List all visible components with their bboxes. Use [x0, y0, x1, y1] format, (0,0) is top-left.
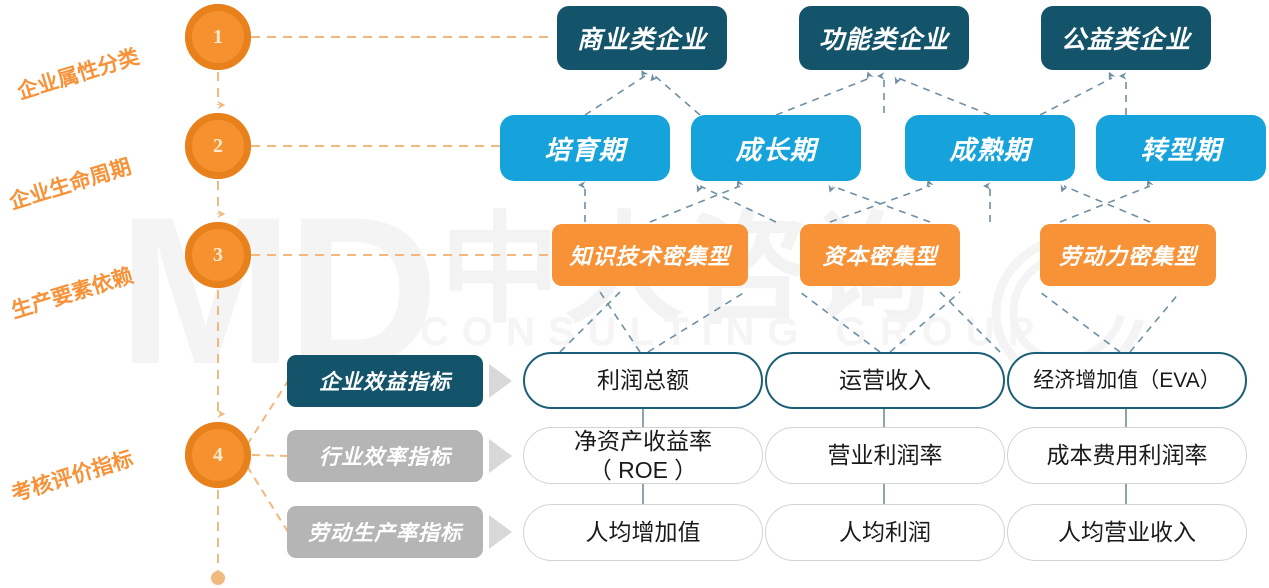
- factor-box-2[interactable]: 资本密集型: [800, 224, 960, 286]
- attribute-box-2[interactable]: 功能类企业: [799, 6, 969, 70]
- factor-box-3[interactable]: 劳动力密集型: [1040, 224, 1216, 286]
- lifecycle-box-3-label: 成熟期: [949, 130, 1030, 167]
- matrix-cell-r1c2[interactable]: 运营收入: [765, 352, 1005, 409]
- matrix-rowlabel-3-label: 劳动生产率指标: [308, 517, 462, 547]
- rail-step-4-number: 4: [213, 444, 223, 467]
- factor-box-1[interactable]: 知识技术密集型: [552, 224, 748, 286]
- matrix-cell-r3c3-label: 人均营业收入: [1058, 518, 1196, 546]
- lifecycle-box-2[interactable]: 成长期: [691, 115, 861, 181]
- matrix-cell-r2c2[interactable]: 营业利润率: [765, 427, 1005, 484]
- lifecycle-box-3[interactable]: 成熟期: [905, 115, 1075, 181]
- rail-branch-4c: [247, 466, 288, 532]
- lifecycle-box-1[interactable]: 培育期: [500, 115, 670, 181]
- matrix-rowlabel-1-arrow-icon: [489, 364, 512, 398]
- attribute-box-1-label: 商业类企业: [577, 20, 707, 56]
- connector-layer: [0, 0, 1269, 588]
- factor-box-1-label: 知识技术密集型: [569, 239, 730, 271]
- rail-step-3[interactable]: 3: [185, 222, 251, 288]
- factor-box-3-label: 劳动力密集型: [1059, 239, 1197, 271]
- lifecycle-box-1-label: 培育期: [544, 130, 625, 167]
- matrix-rowlabel-2-label: 行业效率指标: [319, 441, 451, 471]
- factor-box-2-label: 资本密集型: [822, 239, 937, 271]
- matrix-cell-r1c1-label: 利润总额: [597, 366, 689, 394]
- rail-step-2-number: 2: [213, 135, 223, 158]
- matrix-cell-r3c1[interactable]: 人均增加值: [523, 504, 763, 561]
- rail-step-4[interactable]: 4: [185, 422, 251, 488]
- rail-step-2[interactable]: 2: [185, 113, 251, 179]
- rail-end-dot: [211, 571, 225, 585]
- matrix-cell-r2c1-label: 净资产收益率 （ ROE ）: [574, 427, 712, 483]
- matrix-rowlabel-1-label: 企业效益指标: [319, 366, 451, 396]
- rail-branch-4a: [247, 381, 288, 445]
- matrix-cell-r3c2-label: 人均利润: [839, 518, 931, 546]
- matrix-cell-r1c2-label: 运营收入: [839, 366, 931, 394]
- matrix-rowlabel-3[interactable]: 劳动生产率指标: [287, 506, 483, 558]
- matrix-cell-r3c1-label: 人均增加值: [586, 518, 701, 546]
- matrix-cell-r1c3[interactable]: 经济增加值（EVA）: [1007, 352, 1247, 409]
- matrix-cell-r3c2[interactable]: 人均利润: [765, 504, 1005, 561]
- rail-step-1-number: 1: [213, 26, 223, 49]
- diagram-canvas: MD 中大咨询 CONSULTING GROUP: [0, 0, 1269, 588]
- matrix-cell-r3c3[interactable]: 人均营业收入: [1007, 504, 1247, 561]
- matrix-cell-r2c3-label: 成本费用利润率: [1047, 441, 1208, 469]
- matrix-rowlabel-3-arrow-icon: [489, 515, 512, 549]
- attribute-box-2-label: 功能类企业: [819, 20, 949, 56]
- matrix-rowlabel-2-arrow-icon: [489, 439, 512, 473]
- rail-step-3-number: 3: [213, 244, 223, 267]
- matrix-rowlabel-2[interactable]: 行业效率指标: [287, 430, 483, 482]
- lifecycle-box-2-label: 成长期: [735, 130, 816, 167]
- rail-branch-4b: [252, 455, 288, 456]
- matrix-cell-r2c2-label: 营业利润率: [828, 441, 943, 469]
- lifecycle-box-4-label: 转型期: [1140, 130, 1221, 167]
- attribute-box-3-label: 公益类企业: [1061, 20, 1191, 56]
- lifecycle-box-4[interactable]: 转型期: [1096, 115, 1266, 181]
- matrix-cell-r2c1[interactable]: 净资产收益率 （ ROE ）: [523, 427, 763, 484]
- attribute-box-1[interactable]: 商业类企业: [557, 6, 727, 70]
- attribute-box-3[interactable]: 公益类企业: [1041, 6, 1211, 70]
- matrix-cell-r2c3[interactable]: 成本费用利润率: [1007, 427, 1247, 484]
- matrix-cell-r1c1[interactable]: 利润总额: [523, 352, 763, 409]
- rail-step-1[interactable]: 1: [185, 4, 251, 70]
- matrix-rowlabel-1[interactable]: 企业效益指标: [287, 355, 483, 407]
- matrix-cell-r1c3-label: 经济增加值（EVA）: [1033, 368, 1220, 394]
